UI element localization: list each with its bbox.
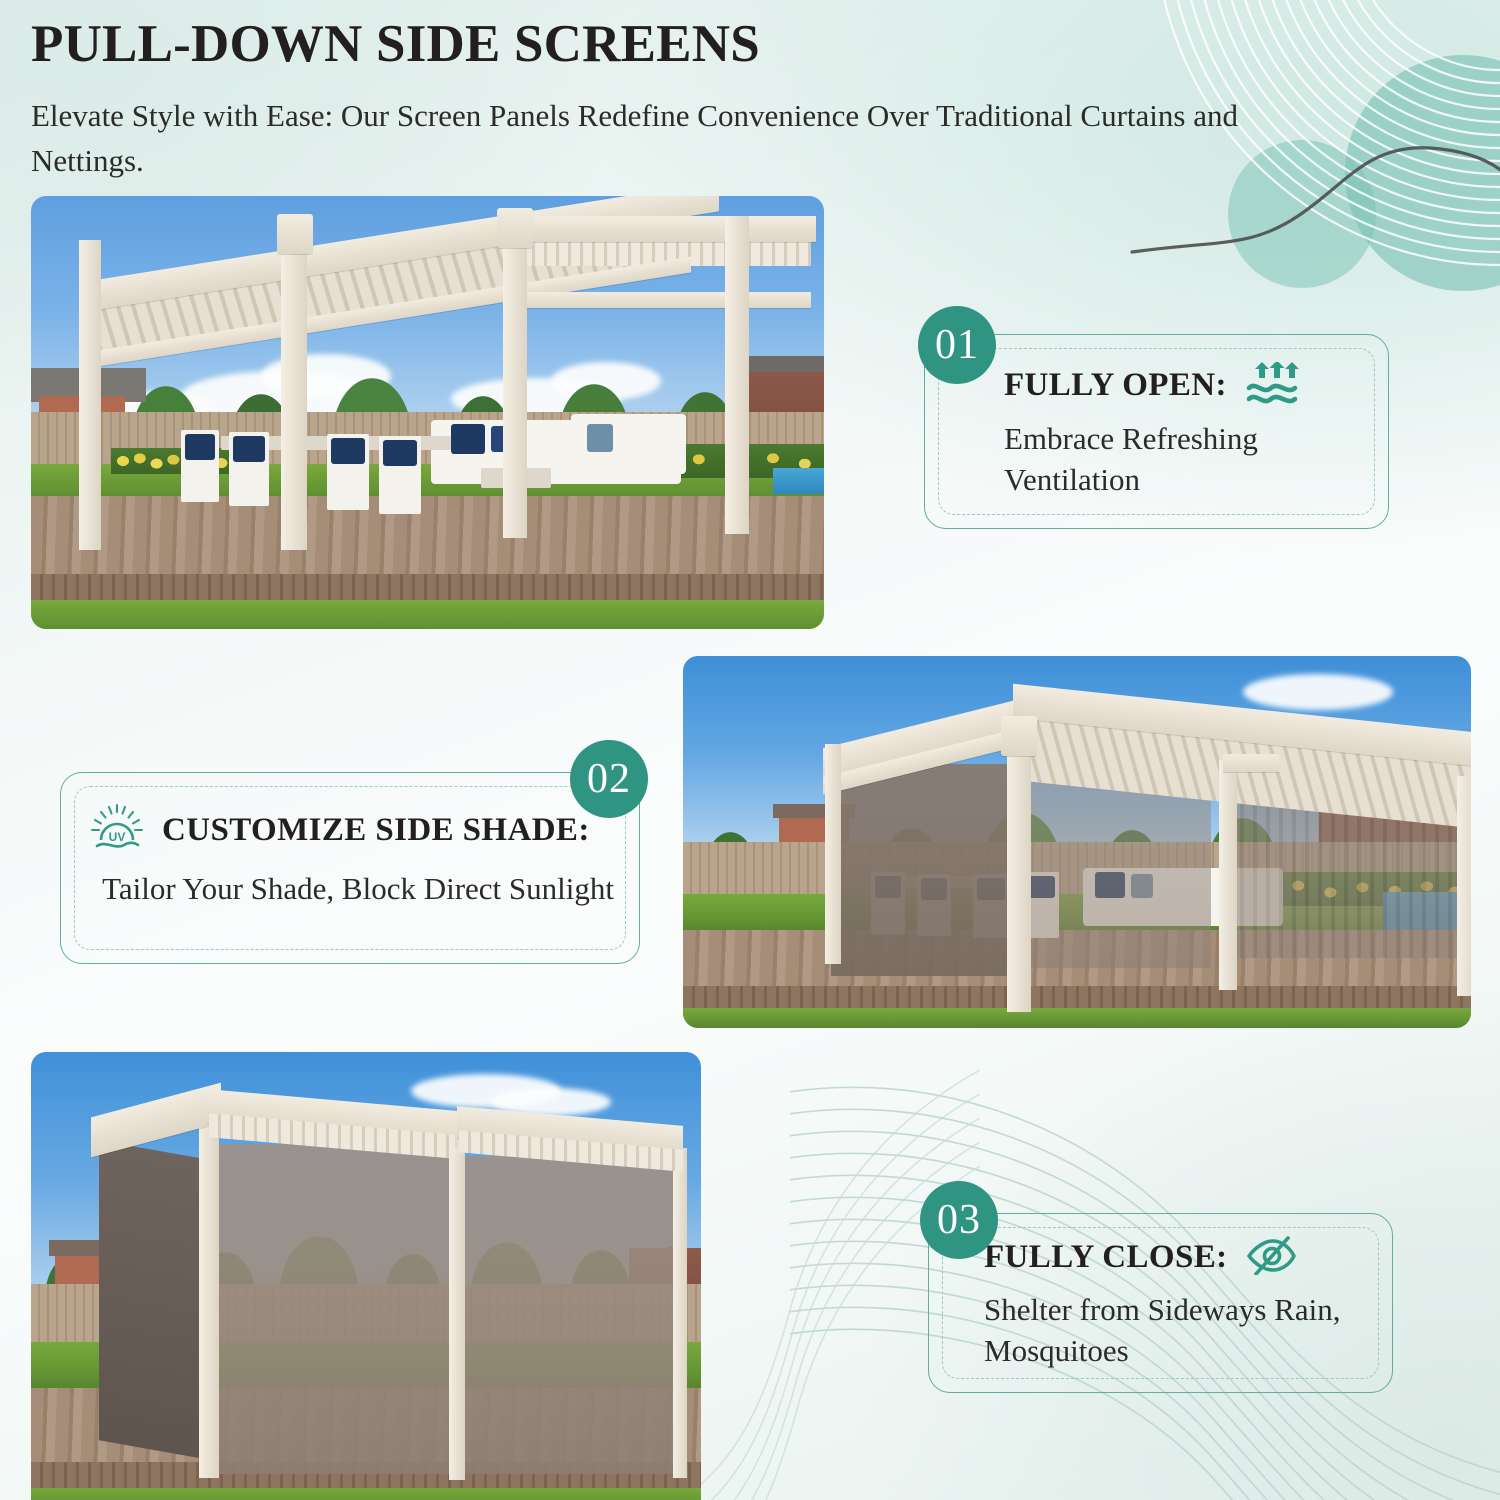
feature-card-fully-open: 01 FULLY OPEN: [924,334,1389,529]
feature-title: FULLY OPEN: [1004,367,1227,404]
feature-card-customize-side-shade: 02 UV CUSTOMIZE [60,772,640,964]
eye-off-icon [1244,1235,1298,1280]
uv-icon-label: UV [109,830,126,844]
feature-badge-01: 01 [918,306,996,384]
decorative-circle-large [1345,55,1500,291]
feature-badge-02: 02 [570,740,648,818]
feature-title: CUSTOMIZE SIDE SHADE: [162,812,590,849]
feature-description: Shelter from Sideways Rain, Mosquitoes [984,1290,1393,1372]
ventilation-airflow-icon [1243,362,1305,409]
feature-card-body: FULLY OPEN: Embrace [1004,362,1389,501]
feature-badge-03: 03 [920,1181,998,1259]
feature-card-heading: FULLY CLOSE: [984,1235,1393,1280]
pergola-screens-fully-open-photo [31,196,824,629]
decorative-circle-small [1228,140,1376,288]
infographic-page: PULL-DOWN SIDE SCREENS Elevate Style wit… [0,0,1500,1500]
page-subtitle: Elevate Style with Ease: Our Screen Pane… [31,93,1246,184]
page-title: PULL-DOWN SIDE SCREENS [31,16,1231,73]
feature-card-heading: FULLY OPEN: [1004,362,1389,409]
feature-description: Tailor Your Shade, Block Direct Sunlight [88,869,614,910]
feature-title: FULLY CLOSE: [984,1239,1228,1276]
feature-description: Embrace Refreshing Ventilation [1004,419,1389,501]
feature-card-fully-close: 03 FULLY CLOSE: Shelter from Sideways Ra… [928,1213,1393,1393]
pergola-screens-fully-closed-photo [31,1052,701,1500]
feature-card-heading: UV CUSTOMIZE SIDE SHADE: [88,802,614,859]
uv-sun-icon: UV [88,802,146,859]
pergola-screens-partially-closed-photo [683,656,1471,1028]
feature-card-body: UV CUSTOMIZE SIDE SHADE: Tailor Your Sha… [88,802,614,910]
feature-card-body: FULLY CLOSE: Shelter from Sideways Rain,… [984,1235,1393,1372]
